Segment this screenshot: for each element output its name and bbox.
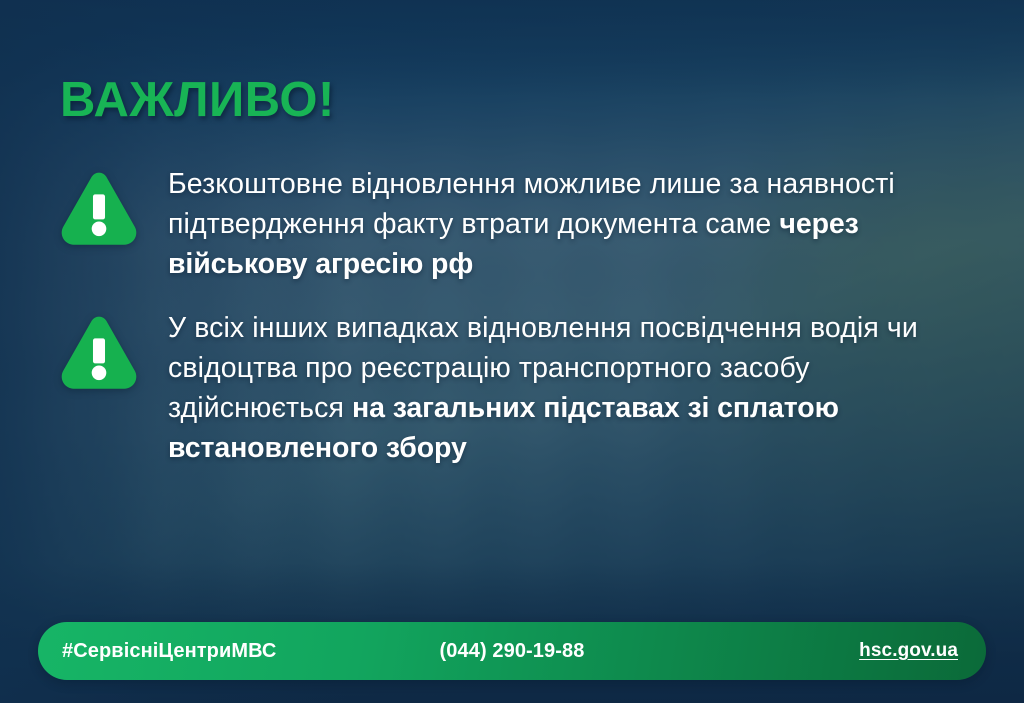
footer-website-link[interactable]: hsc.gov.ua <box>859 640 958 662</box>
footer-hashtag: #СервісніЦентриМВС <box>62 640 276 663</box>
notice-block: У всіх інших випадках відновлення посвід… <box>56 304 956 468</box>
notice-text: Безкоштовне відновлення можливе лише за … <box>168 160 928 284</box>
poster-content: ВАЖЛИВО! Безкоштовне відновлення можливе… <box>0 0 1024 703</box>
alert-triangle-exclamation-icon <box>56 310 142 396</box>
notice-block-list: Безкоштовне відновлення можливе лише за … <box>56 160 956 468</box>
footer-phone-number[interactable]: (044) 290-19-88 <box>440 640 585 663</box>
poster-canvas: ВАЖЛИВО! Безкоштовне відновлення можливе… <box>0 0 1024 703</box>
alert-triangle-exclamation-icon <box>56 166 142 252</box>
notice-block: Безкоштовне відновлення можливе лише за … <box>56 160 956 284</box>
footer-contact-bar: #СервісніЦентриМВС (044) 290-19-88 hsc.g… <box>38 622 986 680</box>
page-title: ВАЖЛИВО! <box>60 72 335 128</box>
notice-text: У всіх інших випадках відновлення посвід… <box>168 304 928 468</box>
